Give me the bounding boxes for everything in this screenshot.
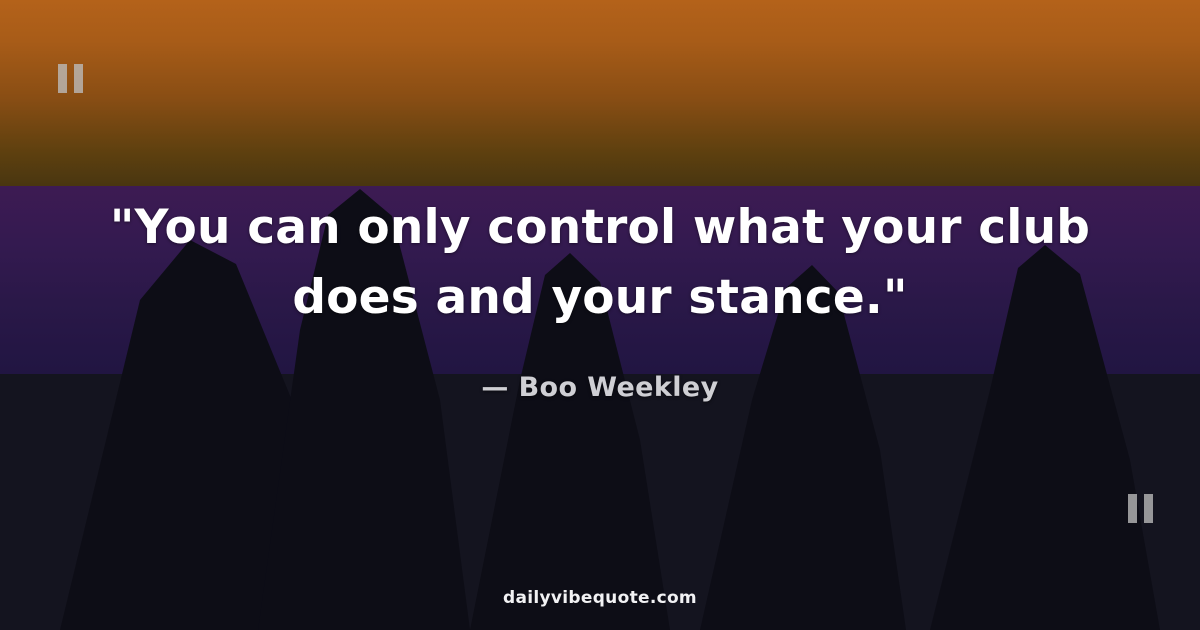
quote-text: "You can only control what your club doe… — [70, 193, 1130, 333]
quote-attribution: — Boo Weekley — [481, 372, 718, 403]
quote-card: "You can only control what your club doe… — [0, 0, 1200, 630]
card-content: "You can only control what your club doe… — [0, 0, 1200, 630]
site-watermark: dailyvibequote.com — [0, 588, 1200, 608]
